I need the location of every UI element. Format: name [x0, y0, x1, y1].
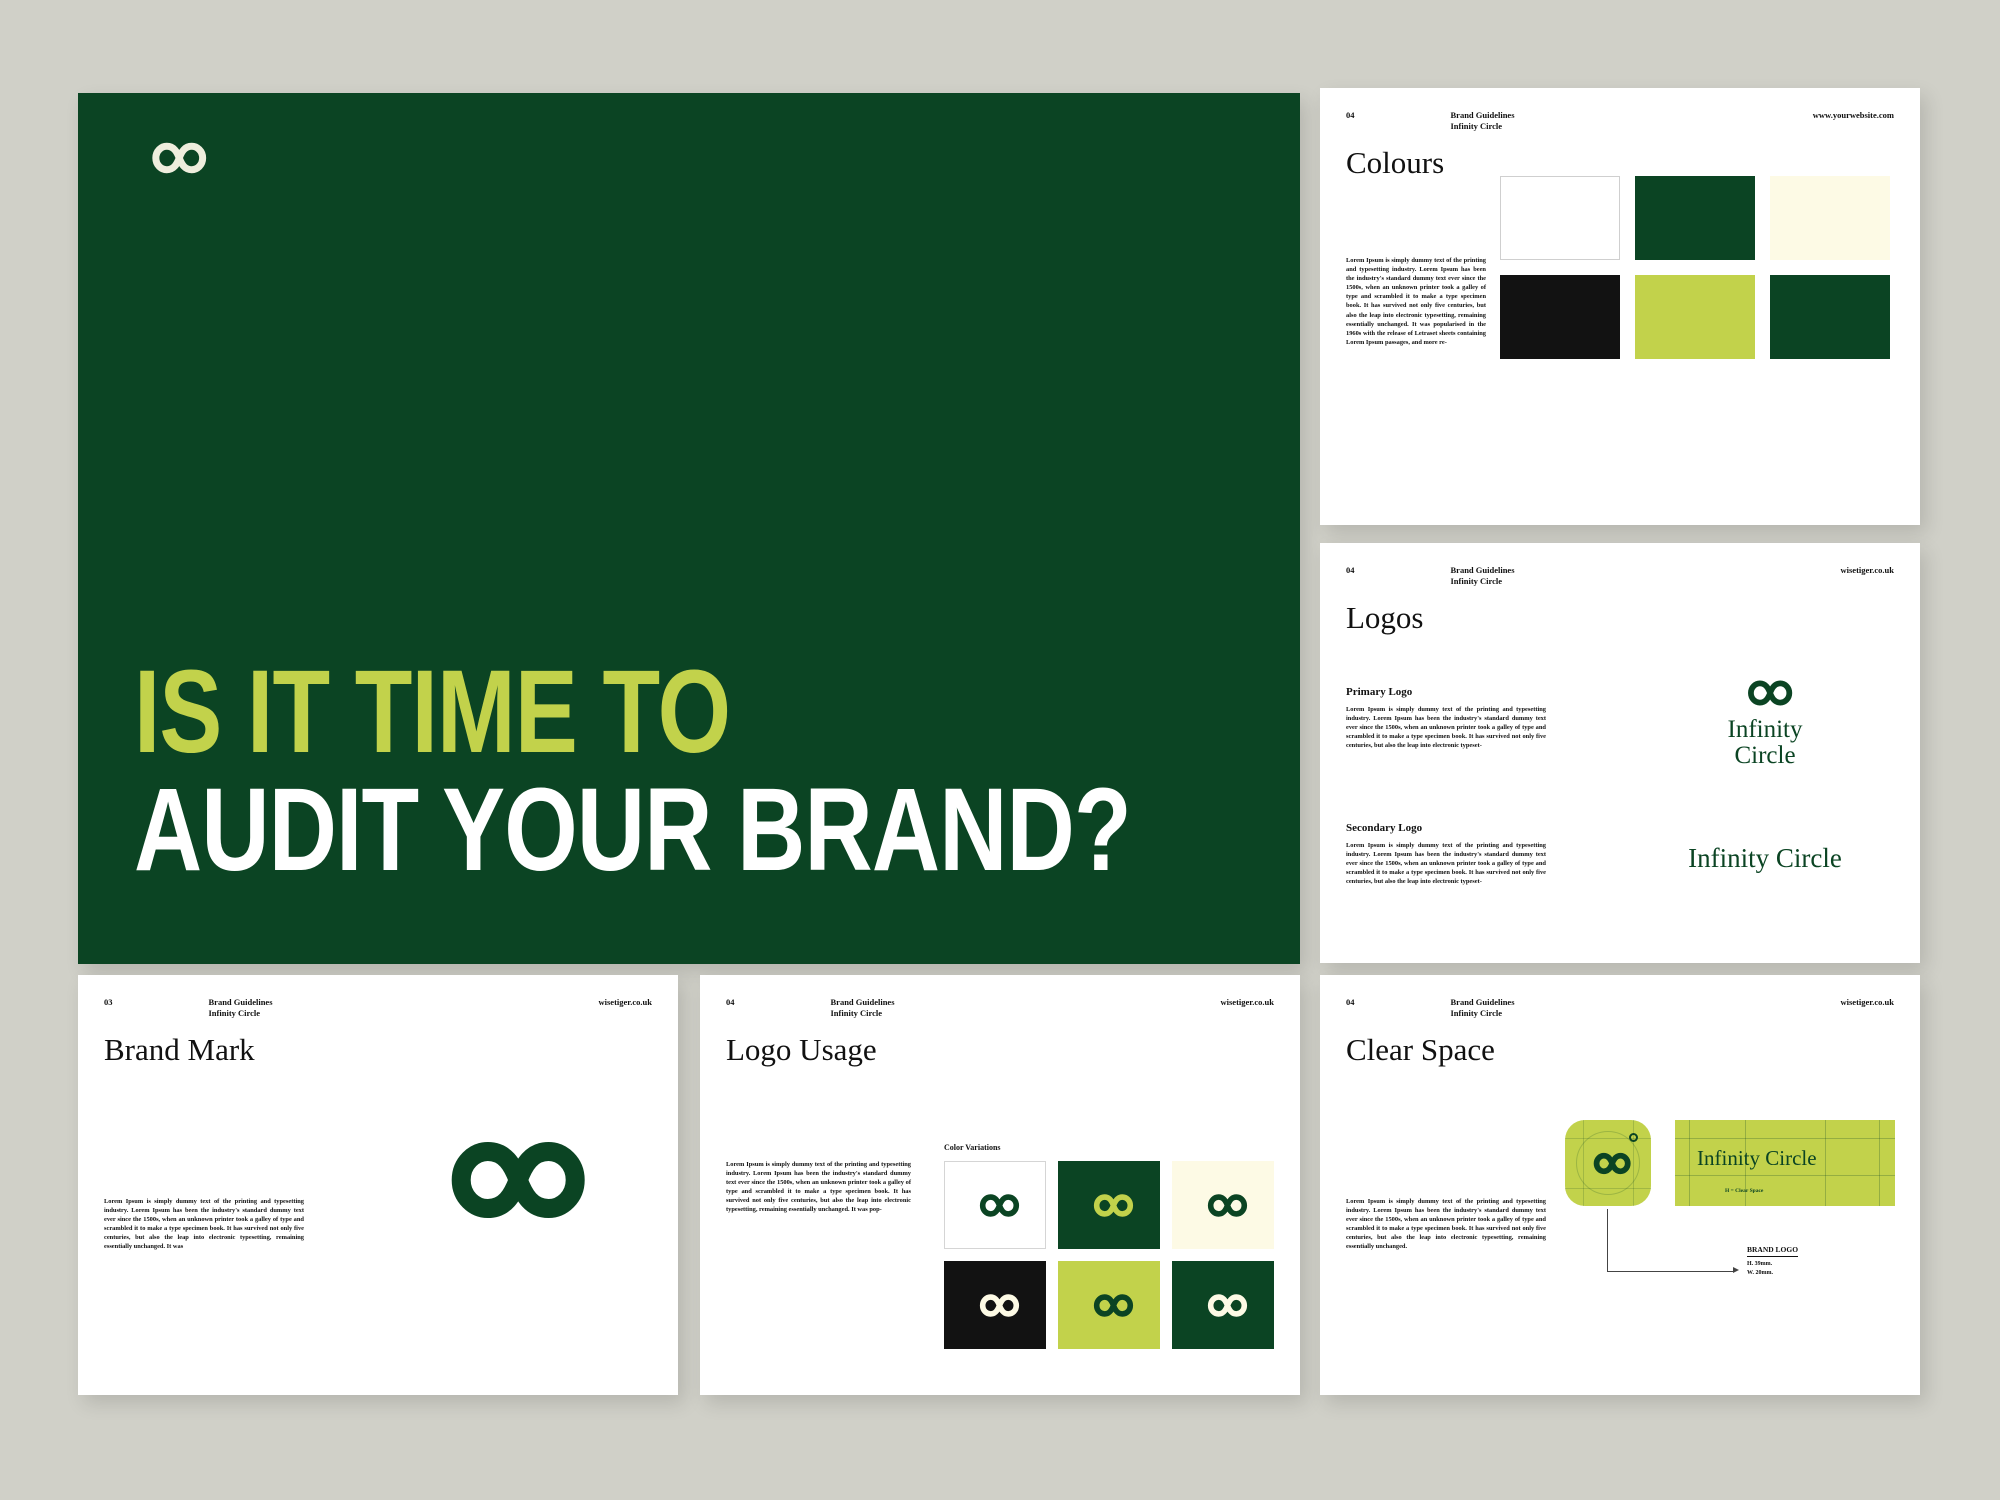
infinity-mark-icon	[1081, 1288, 1137, 1323]
doc-subtitle: Infinity Circle	[1451, 121, 1503, 131]
guide-line-vertical	[1879, 1120, 1880, 1206]
spec-width: W. 20mm.	[1747, 1270, 1773, 1276]
doc-subtitle: Infinity Circle	[831, 1008, 883, 1018]
infinity-mark-icon	[408, 1120, 598, 1240]
doc-title: Brand Guidelines	[209, 997, 273, 1007]
infinity-mark-icon	[1081, 1188, 1137, 1223]
page-number: 04	[1346, 110, 1355, 120]
doc-subtitle: Infinity Circle	[1451, 1008, 1503, 1018]
doc-subtitle: Infinity Circle	[209, 1008, 261, 1018]
guide-line-horizontal	[1675, 1138, 1895, 1139]
spec-title: BRAND LOGO	[1747, 1245, 1798, 1257]
primary-wordmark-line-2: Circle	[1734, 742, 1795, 769]
page-header: 04 Brand Guidelines Infinity Circle www.…	[1320, 88, 1920, 131]
doc-subtitle: Infinity Circle	[1451, 576, 1503, 586]
swatch-white[interactable]	[1500, 176, 1620, 260]
page-number: 03	[104, 997, 113, 1007]
swatch-black[interactable]	[1500, 275, 1620, 359]
doc-title: Brand Guidelines	[1451, 997, 1515, 1007]
logo-variation-grid	[944, 1161, 1274, 1349]
guide-line-vertical	[1825, 1120, 1826, 1206]
page-number: 04	[1346, 997, 1355, 1007]
doc-title: Brand Guidelines	[1451, 110, 1515, 120]
colour-variations-label: Color Variations	[944, 1143, 1001, 1152]
primary-logo-section: Primary Logo Lorem Ipsum is simply dummy…	[1346, 686, 1546, 750]
page-title: Logo Usage	[726, 1032, 877, 1068]
secondary-logo-heading: Secondary Logo	[1346, 822, 1546, 834]
page-number: 04	[726, 997, 735, 1007]
clear-space-wordmark: Infinity Circle	[1697, 1146, 1817, 1171]
hero-slide[interactable]: IS IT TIME TO AUDIT YOUR BRAND?	[78, 93, 1300, 964]
infinity-mark-icon	[967, 1188, 1023, 1223]
infinity-mark-icon	[1195, 1288, 1251, 1323]
page-url: www.yourwebsite.com	[1813, 110, 1894, 120]
brand-logo-spec: BRAND LOGO H. 39mm. W. 20mm.	[1747, 1239, 1847, 1277]
page-title: Colours	[1346, 145, 1444, 181]
swatch-dark-green[interactable]	[1635, 176, 1755, 260]
page-header: 04 Brand Guidelines Infinity Circle wise…	[1320, 975, 1920, 1018]
infinity-mark-icon	[1195, 1188, 1251, 1223]
swatch-lime[interactable]	[1635, 275, 1755, 359]
primary-wordmark-line-1: Infinity	[1728, 716, 1803, 743]
page-number: 04	[1346, 565, 1355, 575]
logo-variation-white-bg[interactable]	[944, 1161, 1046, 1249]
page-header: 03 Brand Guidelines Infinity Circle wise…	[78, 975, 678, 1018]
app-icon-preview[interactable]	[1565, 1120, 1651, 1206]
doc-label: Brand Guidelines Infinity Circle	[831, 997, 895, 1018]
page-url: wisetiger.co.uk	[1840, 565, 1894, 575]
logo-variation-cream-bg[interactable]	[1172, 1161, 1274, 1249]
swatch-cream[interactable]	[1770, 176, 1890, 260]
clear-space-caption: H = Clear Space	[1725, 1188, 1763, 1194]
spec-height: H. 39mm.	[1747, 1261, 1772, 1267]
page-url: wisetiger.co.uk	[1220, 997, 1274, 1007]
logo-variation-green-bg[interactable]	[1058, 1161, 1160, 1249]
secondary-logo-body: Lorem Ipsum is simply dummy text of the …	[1346, 841, 1546, 886]
colour-swatch-grid	[1500, 176, 1890, 359]
infinity-mark-icon	[1582, 1147, 1634, 1180]
secondary-wordmark: Infinity Circle	[1650, 843, 1880, 874]
infinity-mark-icon	[1733, 673, 1797, 713]
page-title: Brand Mark	[104, 1032, 255, 1068]
page-header: 04 Brand Guidelines Infinity Circle wise…	[700, 975, 1300, 1018]
logo-usage-page[interactable]: 04 Brand Guidelines Infinity Circle wise…	[700, 975, 1300, 1395]
primary-logo-heading: Primary Logo	[1346, 686, 1546, 698]
clear-space-diagram: Infinity Circle H = Clear Space BRAND LO…	[1565, 1115, 1895, 1325]
doc-title: Brand Guidelines	[1451, 565, 1515, 575]
clear-space-page[interactable]: 04 Brand Guidelines Infinity Circle wise…	[1320, 975, 1920, 1395]
guide-dot	[1629, 1133, 1638, 1142]
spec-dimensions: H. 39mm. W. 20mm.	[1747, 1260, 1847, 1277]
primary-logo-body: Lorem Ipsum is simply dummy text of the …	[1346, 705, 1546, 750]
infinity-mark-icon	[134, 129, 212, 187]
page-title: Clear Space	[1346, 1032, 1495, 1068]
presentation-board: IS IT TIME TO AUDIT YOUR BRAND? 04 Brand…	[0, 0, 2000, 1500]
brand-mark-page[interactable]: 03 Brand Guidelines Infinity Circle wise…	[78, 975, 678, 1395]
logo-usage-body: Lorem Ipsum is simply dummy text of the …	[726, 1160, 911, 1215]
colours-page[interactable]: 04 Brand Guidelines Infinity Circle www.…	[1320, 88, 1920, 525]
guide-line-horizontal	[1675, 1175, 1895, 1176]
page-url: wisetiger.co.uk	[1840, 997, 1894, 1007]
colours-body-copy: Lorem Ipsum is simply dummy text of the …	[1346, 256, 1486, 347]
secondary-logo-section: Secondary Logo Lorem Ipsum is simply dum…	[1346, 822, 1546, 886]
swatch-dark-green-2[interactable]	[1770, 275, 1890, 359]
leader-arrow-icon	[1733, 1267, 1739, 1273]
hero-title-line-1: IS IT TIME TO	[134, 656, 1035, 768]
primary-wordmark: Infinity Circle	[1650, 717, 1880, 768]
guide-line-vertical	[1689, 1120, 1690, 1206]
logo-variation-black-bg[interactable]	[944, 1261, 1046, 1349]
logos-page[interactable]: 04 Brand Guidelines Infinity Circle wise…	[1320, 543, 1920, 963]
logo-variation-green-bg-cream-mark[interactable]	[1172, 1261, 1274, 1349]
leader-line-vertical	[1607, 1209, 1608, 1271]
page-header: 04 Brand Guidelines Infinity Circle wise…	[1320, 543, 1920, 586]
logo-variation-lime-bg[interactable]	[1058, 1261, 1160, 1349]
doc-label: Brand Guidelines Infinity Circle	[1451, 110, 1515, 131]
page-title: Logos	[1346, 600, 1424, 636]
page-url: wisetiger.co.uk	[598, 997, 652, 1007]
doc-label: Brand Guidelines Infinity Circle	[1451, 997, 1515, 1018]
hero-title-line-2: AUDIT YOUR BRAND?	[134, 774, 1035, 886]
clear-space-body: Lorem Ipsum is simply dummy text of the …	[1346, 1197, 1546, 1252]
primary-logo-lockup: Infinity Circle	[1650, 673, 1880, 768]
infinity-mark-icon	[967, 1288, 1023, 1323]
doc-title: Brand Guidelines	[831, 997, 895, 1007]
leader-line-horizontal	[1607, 1271, 1735, 1272]
brand-mark-body: Lorem Ipsum is simply dummy text of the …	[104, 1197, 304, 1252]
hero-title: IS IT TIME TO AUDIT YOUR BRAND?	[134, 656, 1260, 886]
doc-label: Brand Guidelines Infinity Circle	[1451, 565, 1515, 586]
doc-label: Brand Guidelines Infinity Circle	[209, 997, 273, 1018]
wordmark-clear-space-preview[interactable]: Infinity Circle H = Clear Space	[1675, 1120, 1895, 1206]
